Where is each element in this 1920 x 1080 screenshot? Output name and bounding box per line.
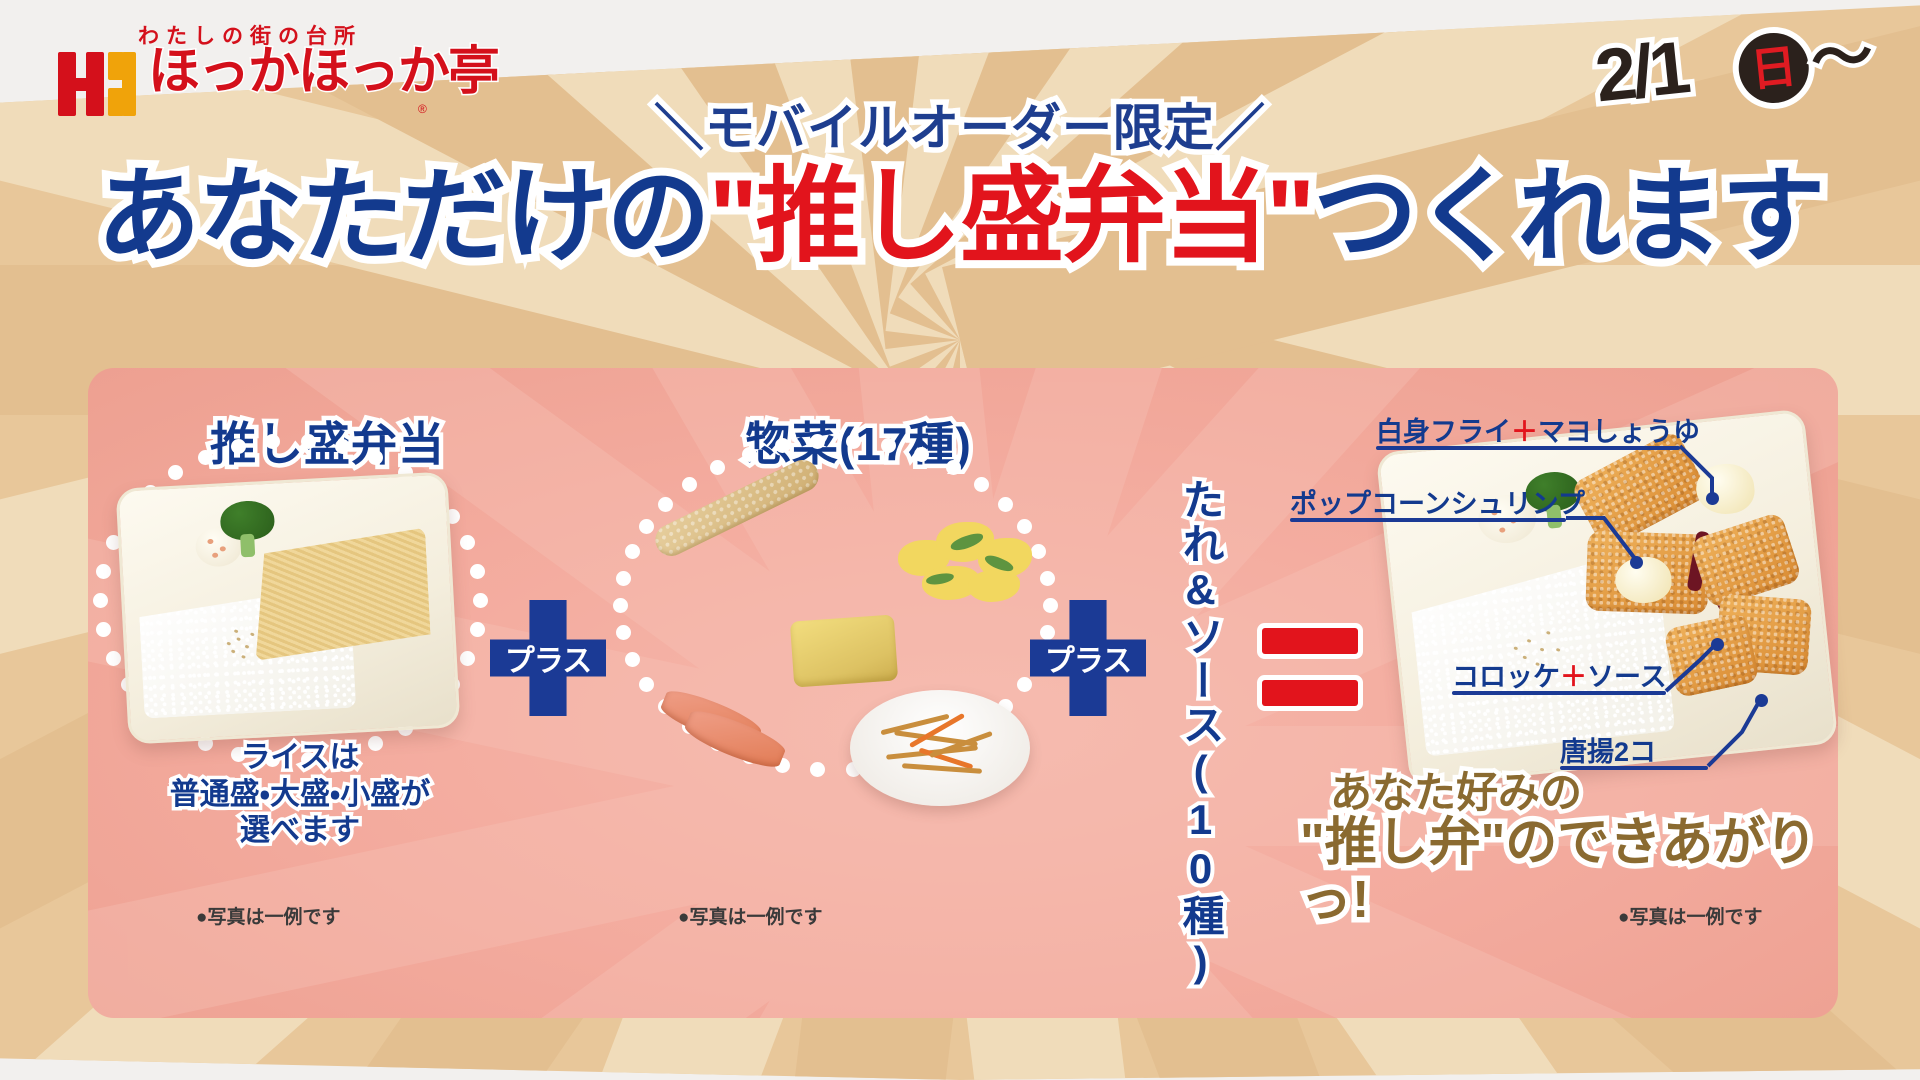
title-part-2: つくれます — [1313, 159, 1823, 275]
ring-dot — [368, 450, 383, 465]
photo-note-right: ●写真は一例です — [1618, 902, 1762, 929]
callout-white-fish: 白身フライ＋マヨしょうゆ — [1376, 410, 1700, 449]
spaghetti-portion — [249, 528, 431, 661]
ring-dot — [231, 439, 246, 454]
leader-dot — [1706, 492, 1719, 505]
mayo-soy-dollop — [1694, 461, 1757, 517]
finish-line-1: あなた好みの — [1300, 770, 1860, 815]
column-heading-sauce: たれ&ソース(10種) — [1178, 478, 1222, 987]
callout-name: 唐揚2コ — [1560, 737, 1656, 767]
ring-dot — [96, 564, 111, 579]
title-highlight: "推し盛弁当" — [709, 159, 1314, 275]
leader-dot — [1711, 638, 1724, 651]
kinpira-gobo — [874, 710, 1006, 784]
rice-note-line-2: 普通盛・大盛・小盛が — [170, 778, 430, 811]
photo-note-left: ●写真は一例です — [196, 902, 340, 929]
ring-dot — [616, 571, 631, 586]
broccoli — [219, 500, 276, 557]
page-title: あなただけの"推し盛弁当"つくれます — [0, 160, 1920, 274]
ring-dot — [742, 447, 757, 462]
ring-dot — [301, 434, 316, 449]
date-tilde: 〜 — [1808, 25, 1876, 93]
plus-badge-1: プラス — [490, 600, 606, 716]
callout-popcorn-shrimp: ポップコーンシュリンプ — [1290, 482, 1585, 521]
ring-dot — [682, 477, 697, 492]
callout-croquette: コロッケ＋ソース — [1452, 655, 1667, 694]
callout-plus: ＋ — [1560, 662, 1587, 692]
ring-dot — [625, 544, 640, 559]
callout-sauce: ソース — [1587, 662, 1667, 692]
promo-banner: わたしの街の台所 ほっかほっか亭 ® 2/1 日 〜 ＼モバイルオーダー限定／ … — [0, 0, 1920, 1080]
plus-label-1: プラス — [490, 600, 606, 716]
ring-dot — [93, 593, 108, 608]
ring-dot — [106, 651, 121, 666]
ring-dot — [1040, 571, 1055, 586]
ring-dot — [613, 598, 628, 613]
ring-dot — [710, 460, 725, 475]
plus-label-2: プラス — [1030, 600, 1146, 716]
callout-name: コロッケ — [1452, 662, 1560, 692]
kinpira-bowl — [850, 690, 1030, 806]
ring-dot — [625, 652, 640, 667]
callout-karaage: 唐揚2コ — [1560, 730, 1656, 769]
ring-dot — [639, 677, 654, 692]
ring-dot — [658, 497, 673, 512]
finish-line-2: "推し弁"のできあがりっ! — [1300, 815, 1860, 927]
callout-plus: ＋ — [1511, 417, 1538, 447]
karaage-2 — [1663, 612, 1760, 698]
ring-dot — [998, 497, 1013, 512]
ring-dot — [881, 438, 896, 453]
rice-note-line-3: 選べます — [240, 814, 360, 847]
ring-dot — [775, 438, 790, 453]
ring-dot — [168, 465, 183, 480]
callout-sauce: マヨしょうゆ — [1538, 417, 1700, 447]
ring-dot — [846, 434, 861, 449]
plus-badge-2: プラス — [1030, 600, 1146, 716]
ring-dot — [470, 564, 485, 579]
rice-options-note: ライスは 普通盛・大盛・小盛が 選べます — [150, 740, 450, 850]
ring-dot — [335, 439, 350, 454]
ring-dot — [616, 625, 631, 640]
title-part-1: あなただけの — [97, 159, 709, 275]
ring-dot — [946, 460, 961, 475]
callout-name: ポップコーンシュリンプ — [1290, 489, 1585, 519]
scrambled-egg-greens — [892, 512, 1040, 616]
callout-name: 白身フライ — [1376, 417, 1511, 447]
tamagoyaki — [790, 614, 898, 687]
callout-underline — [1452, 691, 1666, 695]
callout-underline — [1290, 518, 1566, 522]
ring-dot — [473, 593, 488, 608]
ring-dot — [974, 477, 989, 492]
bento-tray-left — [116, 471, 461, 744]
ring-dot — [265, 434, 280, 449]
ring-dot — [639, 519, 654, 534]
kicker-text: ＼モバイルオーダー限定／ — [0, 88, 1920, 160]
ring-dot — [460, 535, 475, 550]
ring-dot — [198, 450, 213, 465]
photo-note-middle: ●写真は一例です — [678, 902, 822, 929]
equals-sign — [1262, 628, 1358, 706]
leader-dot — [1630, 556, 1643, 569]
rice-note-line-1: ライスは — [240, 741, 359, 774]
ring-dot — [914, 447, 929, 462]
ring-dot — [96, 622, 111, 637]
callout-underline — [1376, 446, 1680, 450]
ring-dot — [810, 434, 825, 449]
ring-dot — [460, 651, 475, 666]
finish-tagline: あなた好みの "推し弁"のできあがりっ! — [1300, 770, 1860, 928]
leader-dot — [1755, 694, 1768, 707]
